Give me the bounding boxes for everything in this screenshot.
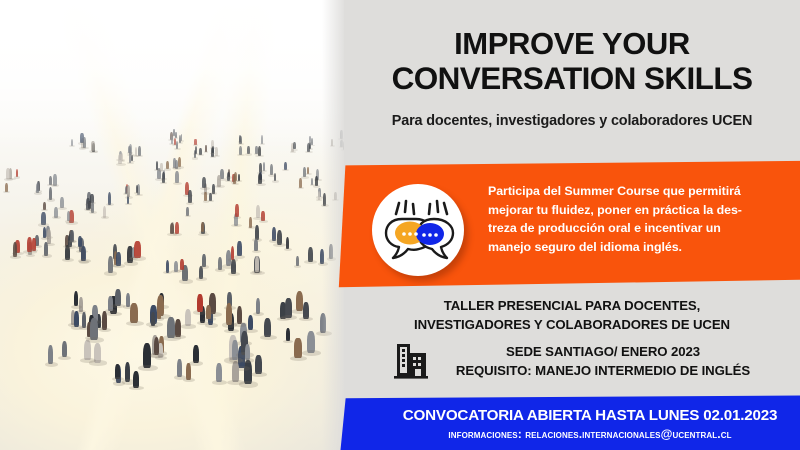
crowd-figure <box>185 309 192 326</box>
crowd-figure <box>255 256 259 271</box>
crowd-figure <box>286 328 290 342</box>
crowd-figure <box>237 241 242 256</box>
speech-bubbles-glyph <box>372 184 464 276</box>
crowd-figure <box>180 259 184 270</box>
photo-horizon-haze <box>0 0 348 150</box>
crowd-figure <box>244 360 252 385</box>
crowd-figure <box>256 205 260 218</box>
crowd-figure <box>256 298 260 314</box>
crowd-figure <box>216 363 222 382</box>
crowd-figure <box>49 176 52 185</box>
crowd-figure <box>175 319 181 337</box>
crowd-figure <box>186 363 191 380</box>
crowd-figure <box>151 312 155 327</box>
crowd-figure <box>154 337 160 356</box>
title-line-2: CONVERSATION SKILLS <box>344 61 800 96</box>
crowd-figure <box>209 193 211 201</box>
crowd-figure <box>258 173 262 184</box>
crowd-figure <box>131 155 133 162</box>
crowd-figure <box>284 162 287 170</box>
crowd-figure <box>249 217 252 227</box>
crowd-figure <box>232 361 239 383</box>
crowd-figure <box>35 235 39 246</box>
speech-bubbles-icon <box>372 184 464 276</box>
crowd-figure <box>60 197 64 209</box>
crowd-figure <box>272 227 276 241</box>
crowd-figure <box>315 176 318 186</box>
info-line-2: INVESTIGADORES Y COLABORADORES DE UCEN <box>344 315 800 334</box>
blue-footer: CONVOCATORIA ABIERTA HASTA LUNES 02.01.2… <box>340 393 800 450</box>
crowd-figure <box>299 178 302 187</box>
crowd-figure <box>5 183 8 192</box>
crowd-figure <box>53 174 57 186</box>
footer-contact-email[interactable]: Informaciones: relaciones.internacionale… <box>380 427 800 441</box>
crowd-figure <box>70 230 74 242</box>
crowd-figure <box>186 207 189 216</box>
banner-text-line-2: mejorar tu fluidez, poner en práctica la… <box>488 201 776 220</box>
page-title: IMPROVE YOUR CONVERSATION SKILLS <box>344 26 800 96</box>
crowd-figure <box>296 256 299 266</box>
crowd-figure <box>235 204 239 217</box>
crowd-figure <box>108 256 113 273</box>
crowd-figure <box>227 172 230 181</box>
crowd-figure <box>115 289 121 306</box>
title-line-1: IMPROVE YOUR <box>454 26 690 61</box>
crowd-figure <box>307 167 310 174</box>
info-line-4: REQUISITO: MANEJO INTERMEDIO DE INGLÉS <box>406 362 800 381</box>
crowd-figure <box>90 318 98 340</box>
crowd-figure <box>248 315 254 331</box>
crowd-figure <box>84 340 91 361</box>
info-line-3: SEDE SANTIAGO/ ENERO 2023 <box>406 343 800 362</box>
crowd-figure <box>13 242 17 257</box>
crowd-figure <box>202 254 206 267</box>
crowd-figure <box>136 185 138 193</box>
crowd-figure <box>270 164 273 175</box>
banner-text-line-4: manejo seguro del idioma inglés. <box>488 238 776 257</box>
crowd-photo <box>0 0 348 450</box>
crowd-figure <box>115 364 120 379</box>
crowd-figure <box>285 298 292 318</box>
crowd-figure <box>170 223 174 234</box>
crowd-figure <box>218 257 222 270</box>
crowd-figure <box>116 252 121 266</box>
crowd-figure <box>217 175 221 186</box>
crowd-figure <box>206 305 211 319</box>
crowd-figure <box>62 341 67 357</box>
crowd-figure <box>303 167 306 177</box>
crowd-figure <box>43 227 46 238</box>
crowd-figure <box>130 303 138 323</box>
crowd-figure <box>197 294 203 312</box>
crowd-figure <box>308 247 313 262</box>
banner-text-line-3: treza de producción oral e incentivar un <box>488 219 776 238</box>
banner-description: Participa del Summer Course que permitir… <box>488 182 776 256</box>
crowd-figure <box>245 344 250 361</box>
crowd-figure <box>126 293 130 307</box>
crowd-figure <box>303 302 309 319</box>
crowd-figure <box>263 162 266 171</box>
crowd-figure <box>307 331 315 354</box>
crowd-figure <box>178 157 181 167</box>
poster-root: IMPROVE YOUR CONVERSATION SKILLS Para do… <box>0 0 800 450</box>
crowd-figure <box>32 238 35 250</box>
crowd-figure <box>16 169 18 178</box>
crowd-figure <box>67 211 70 221</box>
crowd-figure <box>160 163 162 171</box>
crowd-figure <box>202 177 206 188</box>
workshop-info-heading: TALLER PRESENCIAL PARA DOCENTES, INVESTI… <box>344 296 800 334</box>
crowd-figure <box>41 212 46 225</box>
crowd-figure <box>237 306 243 324</box>
crowd-figure <box>212 184 215 194</box>
crowd-figure <box>43 202 46 210</box>
crowd-figure <box>294 338 301 358</box>
crowd-figure <box>204 192 206 201</box>
crowd-figure <box>193 345 199 363</box>
crowd-figure <box>91 201 95 213</box>
crowd-figure <box>166 260 170 272</box>
crowd-figure <box>133 371 139 388</box>
crowd-figure <box>6 168 10 179</box>
crowd-figure <box>156 161 159 169</box>
crowd-figure <box>134 241 141 259</box>
content-panel: IMPROVE YOUR CONVERSATION SKILLS Para do… <box>344 0 800 450</box>
crowd-figure <box>188 190 192 203</box>
crowd-figure <box>125 362 131 382</box>
crowd-figure <box>175 171 179 183</box>
crowd-figure <box>74 311 79 328</box>
orange-banner: Participa del Summer Course que permitir… <box>336 160 800 288</box>
crowd-figure <box>157 304 161 319</box>
crowd-figure <box>254 239 258 251</box>
crowd-figure <box>48 345 53 364</box>
crowd-figure <box>162 172 165 183</box>
crowd-figure <box>82 312 86 328</box>
footer-deadline: CONVOCATORIA ABIERTA HASTA LUNES 02.01.2… <box>380 407 800 424</box>
crowd-figure <box>177 359 182 377</box>
crowd-figure <box>277 230 283 246</box>
crowd-figure <box>255 355 262 374</box>
crowd-figure <box>74 291 79 307</box>
crowd-figure <box>127 185 130 197</box>
crowd-figure <box>226 303 232 325</box>
page-subtitle: Para docentes, investigadores y colabora… <box>344 113 800 129</box>
crowd-figure <box>318 191 320 199</box>
crowd-figure <box>264 318 271 337</box>
crowd-figure <box>36 183 39 194</box>
crowd-figure <box>166 161 169 169</box>
banner-text-line-1: Participa del Summer Course que permitir… <box>488 182 776 201</box>
crowd-figure <box>167 317 175 338</box>
crowd-figure <box>81 246 86 261</box>
crowd-figure <box>49 187 52 200</box>
workshop-info-details: SEDE SANTIAGO/ ENERO 2023 REQUISITO: MAN… <box>406 343 800 380</box>
info-line-1: TALLER PRESENCIAL PARA DOCENTES, <box>344 296 800 315</box>
